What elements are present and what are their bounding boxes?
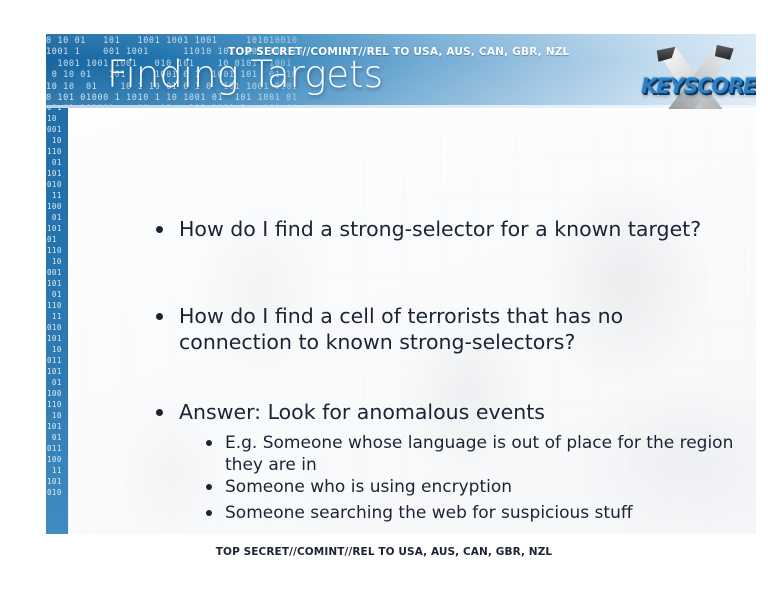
sub-bullet-text: Someone searching the web for suspicious… (225, 502, 633, 524)
bullet-item: How do I find a cell of terrorists that … (156, 303, 736, 355)
sub-bullet-item: Someone who is using encryption (206, 476, 751, 498)
page-title: Finding Targets (107, 53, 383, 97)
bullet-dot-icon (156, 226, 163, 233)
left-binary-strip: 101 10 101 01 101 11 0 1 10 001 10 110 0… (46, 34, 68, 534)
sub-bullet-item: E.g. Someone whose language is out of pl… (206, 432, 751, 476)
slide-content-panel: How do I find a strong-selector for a kn… (69, 109, 756, 534)
bullet-item: Answer: Look for anomalous events (156, 399, 736, 425)
classification-banner-bottom: TOP SECRET//COMINT//REL TO USA, AUS, CAN… (0, 546, 768, 558)
bullet-text: Answer: Look for anomalous events (179, 399, 545, 425)
bullet-dot-icon (206, 510, 212, 516)
logo-wordmark: KEYSCORE (641, 74, 756, 98)
bullet-dot-icon (156, 313, 163, 320)
sub-bullet-text: Someone who is using encryption (225, 476, 512, 498)
sub-bullet-text: E.g. Someone whose language is out of pl… (225, 432, 751, 476)
bullet-text: How do I find a strong-selector for a kn… (179, 216, 701, 242)
bullet-dot-icon (206, 440, 212, 446)
bullet-item: How do I find a strong-selector for a kn… (156, 216, 736, 242)
bullet-text: How do I find a cell of terrorists that … (179, 303, 736, 355)
bullet-dot-icon (206, 484, 212, 490)
sub-bullet-item: Someone searching the web for suspicious… (206, 502, 751, 524)
presentation-slide: 101 10 101 01 101 11 0 1 10 001 10 110 0… (46, 34, 756, 534)
bullet-dot-icon (156, 409, 163, 416)
